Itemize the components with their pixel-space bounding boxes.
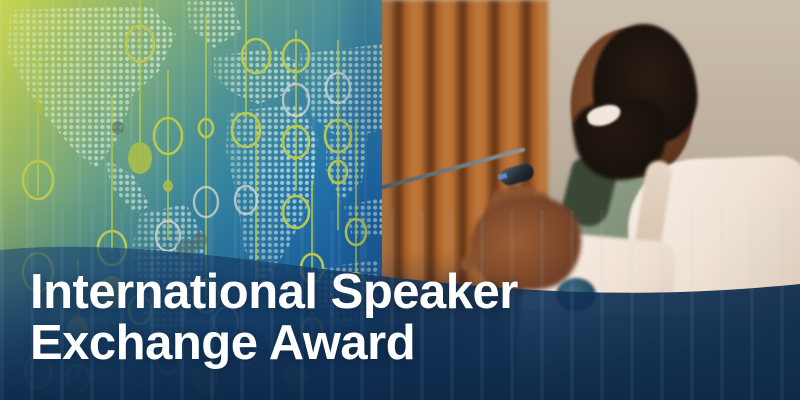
headline-line-1: International Speaker	[30, 267, 518, 317]
headline-line-2: Exchange Award	[30, 318, 518, 368]
headline: International Speaker Exchange Award	[30, 267, 518, 368]
banner: International Speaker Exchange Award	[0, 0, 800, 400]
